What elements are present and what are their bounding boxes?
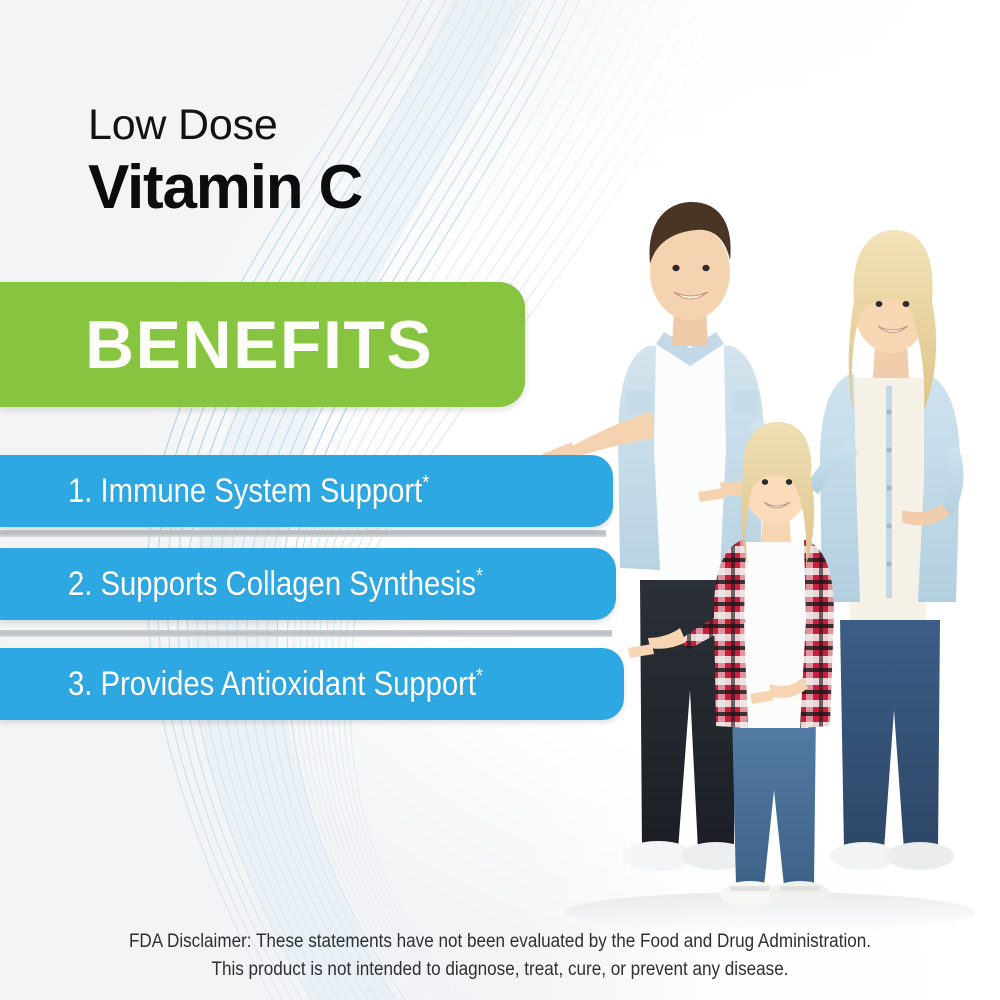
disclaimer-line-1: FDA Disclaimer: These statements have no…	[50, 928, 950, 956]
disclaimer-line-2: This product is not intended to diagnose…	[50, 956, 950, 984]
poster-canvas: Low Dose Vitamin C BENEFITS 1. Immune Sy…	[0, 0, 1000, 1000]
benefits-banner: BENEFITS	[0, 282, 525, 407]
benefit-bar-1: 1. Immune System Support*	[0, 455, 613, 527]
benefit-text-2: 2. Supports Collagen Synthesis*	[68, 567, 483, 601]
benefits-banner-label: BENEFITS	[85, 311, 433, 379]
benefit-text-3: 3. Provides Antioxidant Support*	[68, 667, 483, 701]
bar-divider-2	[0, 630, 612, 637]
benefit-bar-3: 3. Provides Antioxidant Support*	[0, 648, 624, 720]
fda-disclaimer: FDA Disclaimer: These statements have no…	[0, 928, 1000, 983]
benefit-bar-2: 2. Supports Collagen Synthesis*	[0, 548, 616, 620]
benefit-text-1: 1. Immune System Support*	[68, 474, 429, 508]
page-title: Low Dose Vitamin C	[88, 104, 362, 222]
bar-divider-1	[0, 530, 606, 537]
asterisk-2: *	[476, 565, 483, 588]
family-photo	[520, 150, 1000, 940]
asterisk-1: *	[422, 472, 429, 495]
title-line-vitamin-c: Vitamin C	[88, 155, 362, 222]
asterisk-3: *	[476, 665, 483, 688]
title-line-low-dose: Low Dose	[88, 104, 362, 147]
